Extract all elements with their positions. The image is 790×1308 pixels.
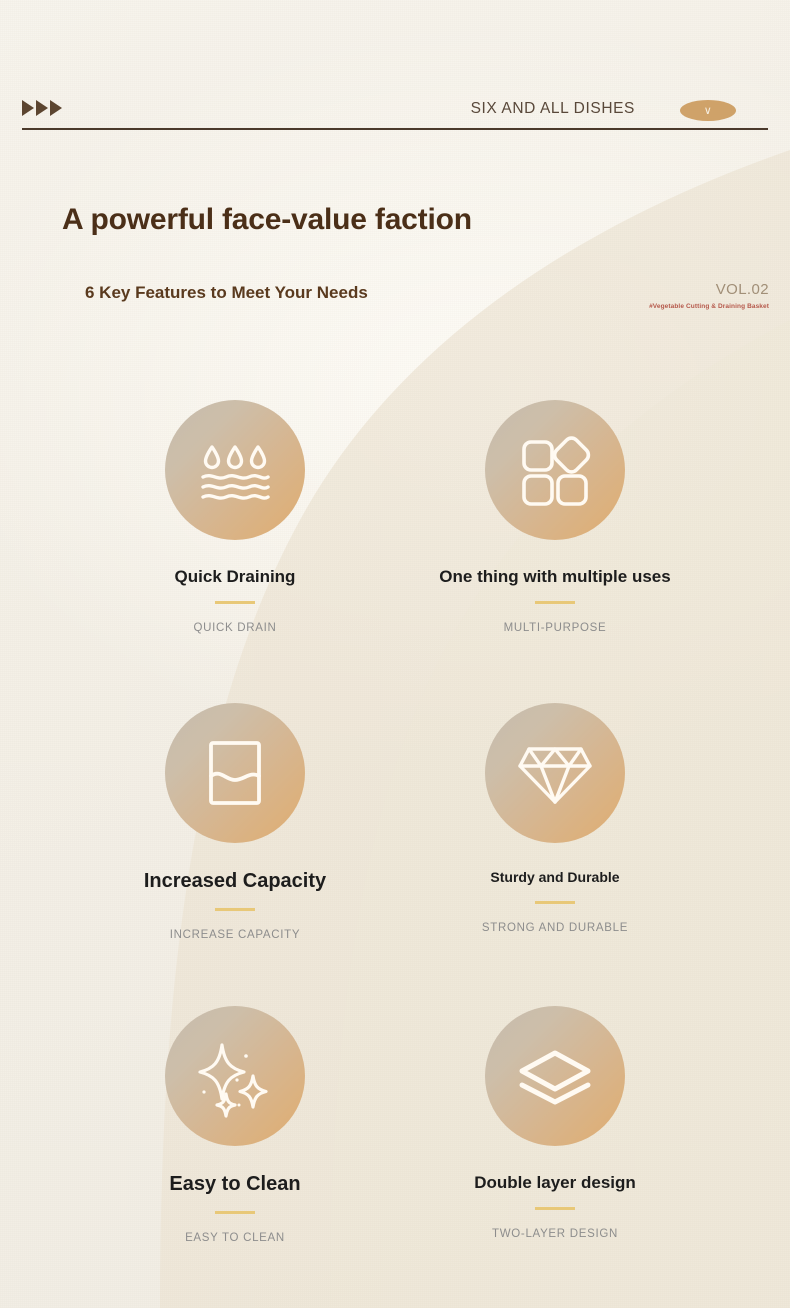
container-waterline-icon — [197, 735, 273, 811]
feature-icon-circle — [485, 1006, 625, 1146]
feature-row: Easy to Clean EASY TO CLEAN Double layer… — [0, 1006, 790, 1308]
page-title: A powerful face-value faction — [62, 203, 472, 237]
feature-subtitle: INCREASE CAPACITY — [170, 929, 301, 941]
feature-subtitle: EASY TO CLEAN — [185, 1232, 285, 1244]
feature-icon-circle — [165, 400, 305, 540]
feature-divider — [215, 908, 255, 911]
feature-title: One thing with multiple uses — [439, 566, 670, 587]
feature-card-quick-draining: Quick Draining QUICK DRAIN — [75, 400, 395, 634]
sparkles-icon — [191, 1032, 279, 1120]
page-subtitle: 6 Key Features to Meet Your Needs — [85, 283, 368, 303]
header-title: SIX AND ALL DISHES — [471, 100, 635, 118]
feature-divider — [535, 901, 575, 904]
page-header: SIX AND ALL DISHES ∨ — [0, 86, 790, 144]
feature-title: Sturdy and Durable — [490, 869, 619, 887]
feature-row: Increased Capacity INCREASE CAPACITY Stu… — [0, 703, 790, 1006]
feature-title: Increased Capacity — [144, 869, 326, 894]
triple-arrow-icon — [22, 100, 62, 116]
feature-card-easy-to-clean: Easy to Clean EASY TO CLEAN — [75, 1006, 395, 1244]
chevron-down-badge[interactable]: ∨ — [680, 100, 736, 121]
product-feature-page: SIX AND ALL DISHES ∨ A powerful face-val… — [0, 0, 790, 1308]
volume-hashtag: #Vegetable Cutting & Draining Basket — [649, 303, 769, 310]
feature-card-double-layer: Double layer design TWO-LAYER DESIGN — [395, 1006, 715, 1240]
feature-divider — [535, 1207, 575, 1210]
feature-icon-circle — [165, 1006, 305, 1146]
feature-subtitle: STRONG AND DURABLE — [482, 922, 628, 934]
arrow-tri-3 — [50, 100, 62, 116]
diamond-gem-icon — [511, 729, 599, 817]
feature-row: Quick Draining QUICK DRAIN One thing wit… — [0, 400, 790, 703]
layers-stack-icon — [512, 1033, 598, 1119]
shapes-grid-icon — [513, 428, 597, 512]
feature-icon-circle — [165, 703, 305, 843]
feature-icon-circle — [485, 703, 625, 843]
feature-subtitle: MULTI-PURPOSE — [504, 622, 607, 634]
arrow-tri-1 — [22, 100, 34, 116]
water-drops-waves-icon — [190, 425, 280, 515]
feature-divider — [535, 601, 575, 604]
feature-title: Double layer design — [474, 1172, 636, 1193]
feature-title: Quick Draining — [175, 566, 296, 587]
arrow-tri-2 — [36, 100, 48, 116]
feature-card-sturdy-durable: Sturdy and Durable STRONG AND DURABLE — [395, 703, 715, 934]
header-divider — [22, 128, 768, 130]
feature-title: Easy to Clean — [169, 1172, 300, 1197]
feature-subtitle: TWO-LAYER DESIGN — [492, 1228, 618, 1240]
feature-icon-circle — [485, 400, 625, 540]
feature-divider — [215, 601, 255, 604]
feature-divider — [215, 1211, 255, 1214]
feature-card-multi-purpose: One thing with multiple uses MULTI-PURPO… — [395, 400, 715, 634]
feature-card-increased-capacity: Increased Capacity INCREASE CAPACITY — [75, 703, 395, 941]
chevron-down-icon: ∨ — [704, 104, 713, 117]
feature-subtitle: QUICK DRAIN — [193, 622, 276, 634]
feature-grid: Quick Draining QUICK DRAIN One thing wit… — [0, 400, 790, 1308]
volume-label: VOL.02 — [716, 281, 769, 298]
